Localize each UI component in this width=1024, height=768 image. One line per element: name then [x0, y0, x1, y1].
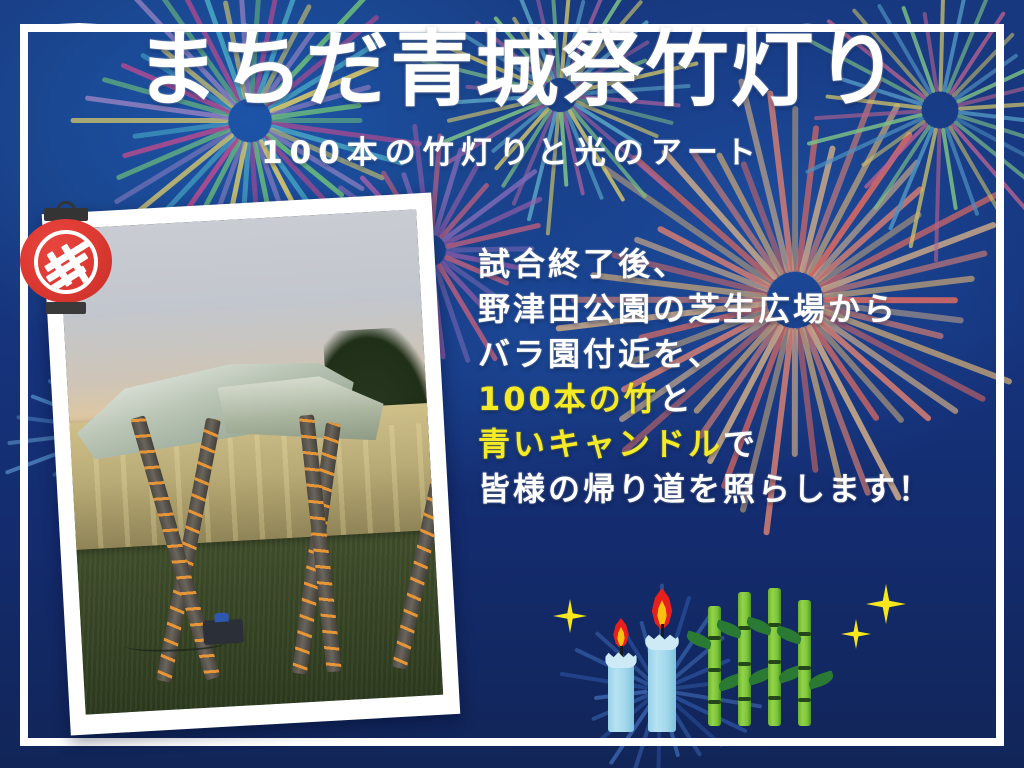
- page-title: まちだ青城祭竹灯り: [0, 28, 1024, 111]
- page-subtitle: 100本の竹灯りと光のアート: [0, 127, 1024, 172]
- bamboo-node: [708, 636, 721, 640]
- description-line-text: 皆様の帰り道を照らします！: [478, 470, 933, 508]
- bamboo-node: [738, 662, 751, 666]
- bamboo-cluster-icon: [706, 588, 826, 734]
- bamboo-node: [708, 668, 721, 672]
- description-line: 野津田公園の芝生広場から: [478, 287, 998, 332]
- description-line: バラ園付近を、: [478, 332, 998, 377]
- description-line: 100本の竹と: [478, 377, 998, 422]
- zelvia-logo-icon: [34, 230, 98, 294]
- description-line-text: 野津田公園の芝生広場から: [478, 290, 898, 328]
- bamboo-node: [738, 697, 751, 701]
- bamboo-node: [768, 696, 781, 700]
- bamboo-node: [798, 666, 811, 670]
- description-line-text: バラ園付近を、: [478, 335, 723, 373]
- description-line: 青いキャンドルで: [478, 422, 998, 467]
- bamboo-leaf: [807, 670, 835, 689]
- description-line: 試合終了後、: [478, 242, 998, 287]
- poster-canvas: まちだ青城祭竹灯り 100本の竹灯りと光のアート: [0, 0, 1024, 768]
- bamboo-stalk: [738, 592, 751, 726]
- bamboo-node: [768, 660, 781, 664]
- description-line-suffix: で: [723, 425, 758, 463]
- blue-candle-icon: [608, 630, 634, 732]
- bottom-icon-strip: [0, 582, 1024, 732]
- candle-body: [608, 662, 634, 732]
- description-text: 試合終了後、野津田公園の芝生広場からバラ園付近を、100本の竹と青いキャンドルで…: [478, 242, 998, 512]
- description-line-text: 青いキャンドル: [478, 425, 723, 463]
- candle-body: [648, 644, 676, 732]
- bamboo-node: [798, 698, 811, 702]
- description-line: 皆様の帰り道を照らします！: [478, 467, 998, 512]
- red-lantern-icon: [18, 208, 114, 314]
- description-line-text: 100本の竹: [478, 380, 659, 418]
- lantern-base: [46, 302, 86, 314]
- bamboo-stalk: [798, 600, 811, 726]
- bamboo-node: [708, 700, 721, 704]
- bamboo-stalk: [768, 588, 781, 726]
- description-line-suffix: と: [659, 380, 694, 418]
- blue-candle-icon: [648, 602, 676, 732]
- title-block: まちだ青城祭竹灯り 100本の竹灯りと光のアート: [0, 28, 1024, 172]
- description-line-text: 試合終了後、: [478, 245, 688, 283]
